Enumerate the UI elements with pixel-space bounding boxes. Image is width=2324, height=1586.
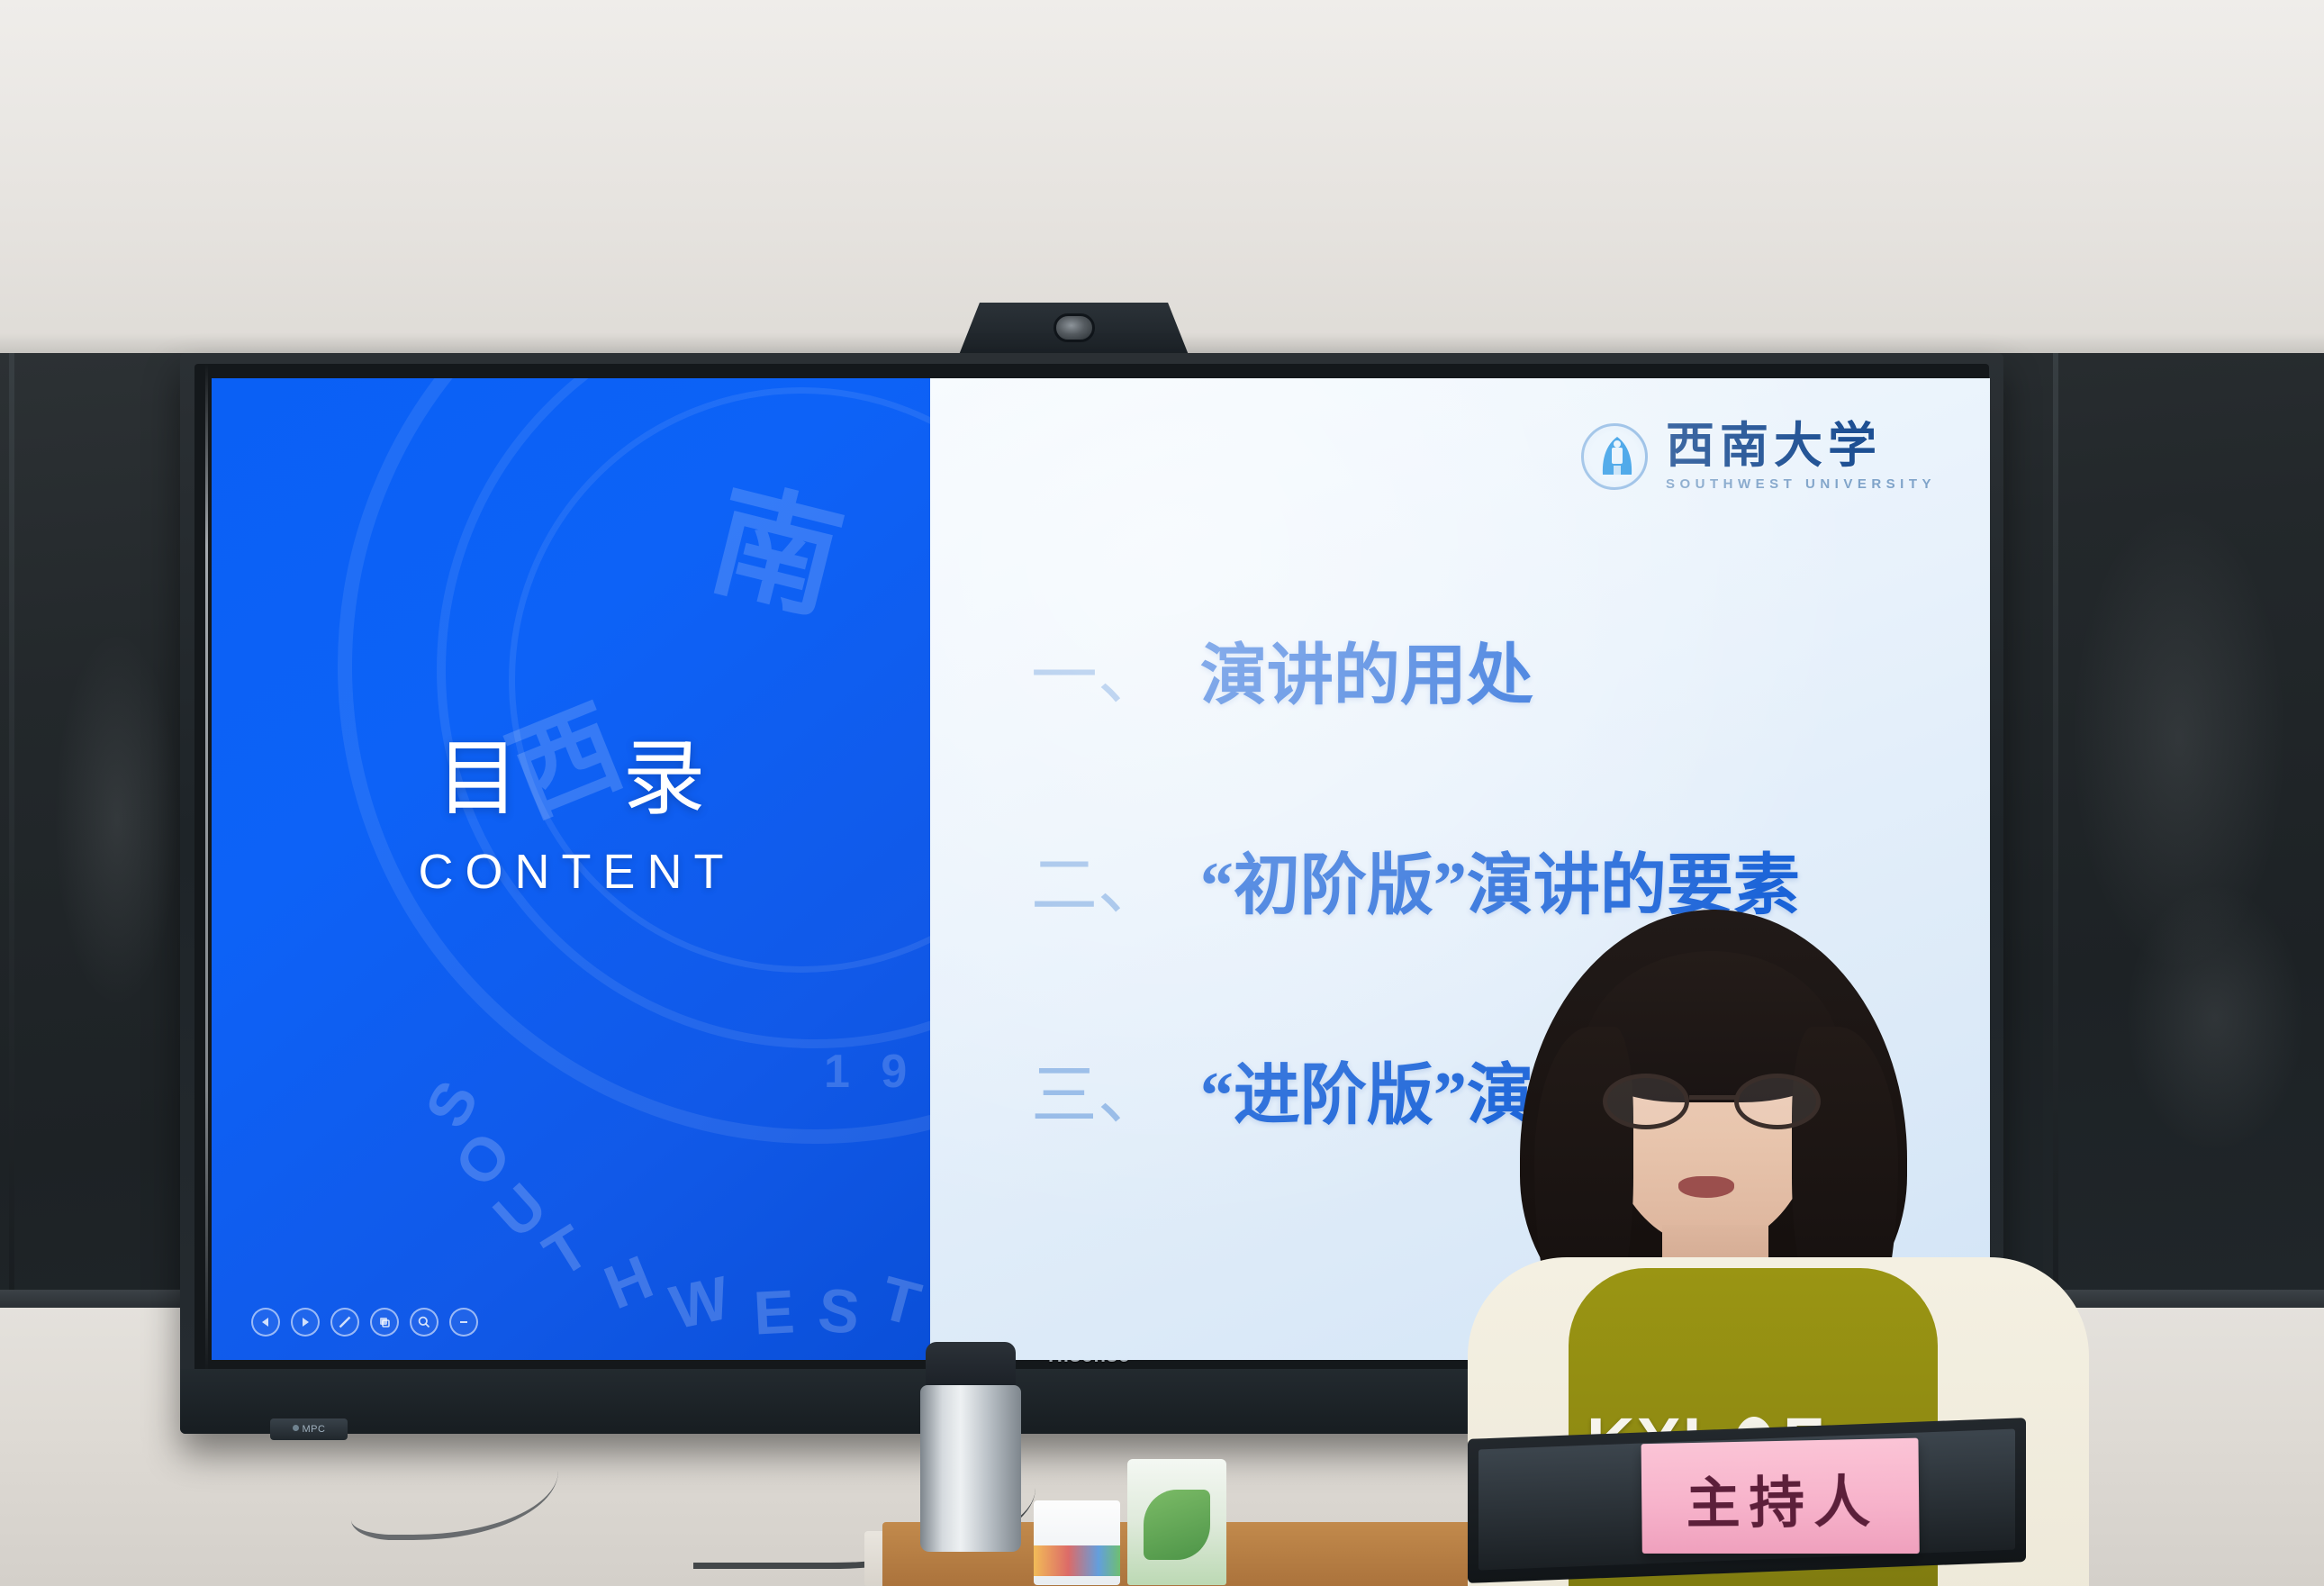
university-crest-icon [1581, 423, 1648, 490]
minimize-icon[interactable] [449, 1308, 478, 1337]
glasses-lens-left [1603, 1074, 1689, 1129]
slide-left-panel: 南 西 S O U T H W E S T 1 9 目 录 CONTENT [212, 378, 930, 1360]
leaf-graphic-icon [1144, 1490, 1210, 1560]
mouth [1678, 1176, 1734, 1198]
slide-playback-toolbar[interactable] [251, 1308, 478, 1337]
glasses-bridge [1689, 1095, 1736, 1100]
university-name-en: SOUTHWEST UNIVERSITY [1666, 477, 1936, 491]
university-logo: 西南大学 SOUTHWEST UNIVERSITY [1581, 421, 1936, 491]
university-logo-text: 西南大学 SOUTHWEST UNIVERSITY [1666, 421, 1936, 491]
blackboard-seam-left [9, 353, 14, 1299]
name-placard: 主持人 [1641, 1438, 1920, 1554]
toc-item-number: 二、 [1031, 831, 1200, 928]
tissue-box [1034, 1500, 1120, 1585]
content-title-cn: 目 录 [212, 711, 930, 831]
content-title-en: CONTENT [212, 844, 930, 900]
blackboard-seam-right [2053, 353, 2058, 1299]
previous-slide-icon[interactable] [251, 1308, 280, 1337]
thermos-lid [926, 1342, 1016, 1389]
tissue-box-band [1034, 1545, 1120, 1576]
mpc-dot-icon [293, 1425, 299, 1431]
classroom-scene: Hisense MPC 南 西 S O U T H W E S T 1 9 [0, 0, 2324, 1586]
snack-bag [1127, 1459, 1226, 1585]
next-slide-icon[interactable] [291, 1308, 320, 1337]
thermos-body [920, 1385, 1021, 1552]
zoom-magnifier-icon[interactable] [410, 1308, 439, 1337]
glasses-icon [1603, 1074, 1821, 1131]
bezel-highlight [205, 364, 208, 1373]
name-placard-label: 主持人 [1677, 1455, 1880, 1537]
crest-glyph [1595, 435, 1640, 484]
camera-icon [1053, 313, 1095, 342]
toc-item-number: 三、 [1031, 1041, 1200, 1137]
slide-content-title: 目 录 CONTENT [212, 711, 930, 900]
toc-item-number: 一、 [1031, 621, 1200, 718]
display-mpc-badge: MPC [270, 1418, 348, 1440]
stamp-capture-icon[interactable] [370, 1308, 399, 1337]
glasses-lens-right [1734, 1074, 1821, 1129]
mpc-badge-label: MPC [303, 1424, 326, 1435]
seal-year: 1 9 [824, 1045, 916, 1099]
pen-annotate-icon[interactable] [330, 1308, 359, 1337]
toc-item-label: 演讲的用处 [1200, 621, 1533, 718]
thermos-flask [920, 1342, 1021, 1549]
university-name-cn: 西南大学 [1666, 421, 1936, 470]
toc-item[interactable]: 一、 演讲的用处 [1031, 621, 1990, 718]
